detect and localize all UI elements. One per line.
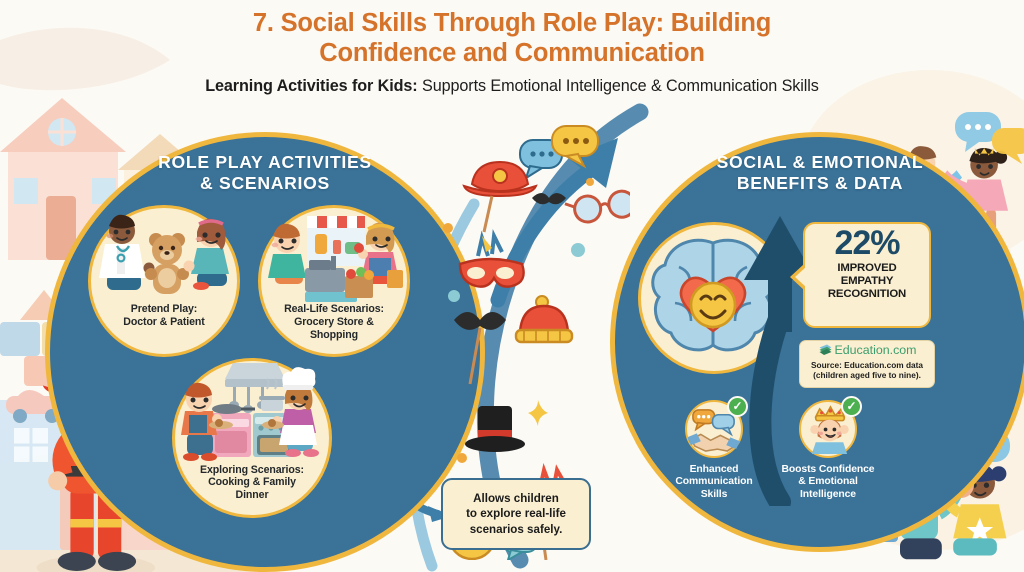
left-heading-line-2: & SCENARIOS xyxy=(200,173,330,193)
activity-caption: Exploring Scenarios: Cooking & Family Di… xyxy=(192,464,312,503)
caption-line-3: Dinner xyxy=(236,489,269,501)
right-heading-line-2: BENEFITS & DATA xyxy=(737,173,903,193)
crown-child-icon: ✓ xyxy=(799,400,857,458)
caption-line-1: Pretend Play: xyxy=(131,303,197,315)
top-hat-icon xyxy=(465,406,525,452)
doctor-patient-teddy-icon xyxy=(91,208,237,301)
benefit-enhanced-communication[interactable]: ✓ Enhanced Communication Skills xyxy=(658,400,770,501)
page-title: 7. Social Skills Through Role Play: Buil… xyxy=(0,8,1024,68)
carnival-mask-icon xyxy=(460,236,524,287)
left-panel-heading: ROLE PLAY ACTIVITIES & SCENARIOS xyxy=(45,152,485,194)
callout-text: Allows children to explore real-life sce… xyxy=(466,491,566,536)
activity-caption: Pretend Play: Doctor & Patient xyxy=(115,303,212,329)
subtitle-rest: Supports Emotional Intelligence & Commun… xyxy=(418,77,819,95)
activity-caption: Real-Life Scenarios: Grocery Store & Sho… xyxy=(276,303,392,342)
benefit-boosts-confidence[interactable]: ✓ Boosts Confidence & Emotional Intellig… xyxy=(772,400,884,501)
callout-line-2: to explore real-life xyxy=(466,507,566,520)
benefit-label: Enhanced Communication Skills xyxy=(658,464,770,501)
header: 7. Social Skills Through Role Play: Buil… xyxy=(0,8,1024,97)
page-subtitle: Learning Activities for Kids: Supports E… xyxy=(0,77,1024,96)
infographic-canvas: A B C xyxy=(0,0,1024,572)
source-line-1: Source: Education.com data xyxy=(811,360,923,370)
right-panel-heading: SOCIAL & EMOTIONAL BENEFITS & DATA xyxy=(610,152,1024,194)
stat-callout: 22% IMPROVED EMPATHY RECOGNITION xyxy=(803,222,931,328)
dot-decor xyxy=(457,453,467,463)
grocery-store-icon xyxy=(261,208,407,301)
beanie-hat-icon xyxy=(516,296,572,342)
caption-line-2: Doctor & Patient xyxy=(123,316,204,328)
benefit-label-line-2: & Emotional xyxy=(798,476,858,487)
check-icon: ✓ xyxy=(727,396,748,417)
caption-line-1: Real-Life Scenarios: xyxy=(284,303,384,315)
benefit-label-line-3: Skills xyxy=(701,489,728,500)
dot-decor xyxy=(571,243,585,257)
activity-bubble-real-life[interactable]: Real-Life Scenarios: Grocery Store & Sho… xyxy=(258,205,410,357)
caption-line-2: Grocery Store & xyxy=(294,316,374,328)
activity-bubble-exploring[interactable]: Exploring Scenarios: Cooking & Family Di… xyxy=(172,358,332,518)
source-line-2: (children aged five to nine). xyxy=(813,370,921,380)
stat-label-line-3: RECOGNITION xyxy=(828,288,906,300)
benefit-label: Boosts Confidence & Emotional Intelligen… xyxy=(772,464,884,501)
activity-bubble-pretend-play[interactable]: Pretend Play: Doctor & Patient xyxy=(88,205,240,357)
caption-line-2: Cooking & Family xyxy=(208,476,296,488)
title-line-1: 7. Social Skills Through Role Play: Buil… xyxy=(253,9,771,37)
left-heading-line-1: ROLE PLAY ACTIVITIES xyxy=(158,152,372,172)
source-brand: Education.com xyxy=(800,343,934,358)
sparkle-icon xyxy=(528,400,548,426)
benefit-label-line-1: Boosts Confidence xyxy=(782,464,875,475)
dot-decor xyxy=(586,178,594,186)
right-heading-line-1: SOCIAL & EMOTIONAL xyxy=(717,152,924,172)
caption-line-1: Exploring Scenarios: xyxy=(200,464,304,476)
callout-line-1: Allows children xyxy=(473,492,559,505)
source-note: Source: Education.com data (children age… xyxy=(800,360,934,380)
benefit-label-line-3: Intelligence xyxy=(800,489,856,500)
callout-line-3: scenarios safely. xyxy=(470,523,563,536)
cooking-kitchen-icon xyxy=(175,361,329,460)
benefit-label-line-2: Communication xyxy=(675,476,752,487)
dot-decor xyxy=(443,223,453,233)
mustache-icon xyxy=(532,193,566,204)
mustache-icon xyxy=(454,312,506,384)
stat-label-line-2: EMPATHY xyxy=(841,275,894,287)
education-logo-icon xyxy=(818,343,833,358)
source-brand-text: Education.com xyxy=(835,344,917,356)
stat-number: 22% xyxy=(805,226,929,261)
caption-line-3: Shopping xyxy=(310,329,358,341)
subtitle-lead: Learning Activities for Kids: xyxy=(205,77,417,95)
benefit-label-line-1: Enhanced xyxy=(690,464,739,475)
title-line-2: Confidence and Communication xyxy=(319,39,704,67)
handshake-speech-icon: ✓ xyxy=(685,400,743,458)
safe-exploration-callout: Allows children to explore real-life sce… xyxy=(441,478,591,550)
check-icon: ✓ xyxy=(841,396,862,417)
dot-decor xyxy=(448,290,460,302)
speech-bubble-icon xyxy=(520,126,598,178)
stat-label-line-1: IMPROVED xyxy=(837,262,896,274)
stat-label: IMPROVED EMPATHY RECOGNITION xyxy=(805,262,929,301)
source-card: Education.com Source: Education.com data… xyxy=(799,340,935,388)
